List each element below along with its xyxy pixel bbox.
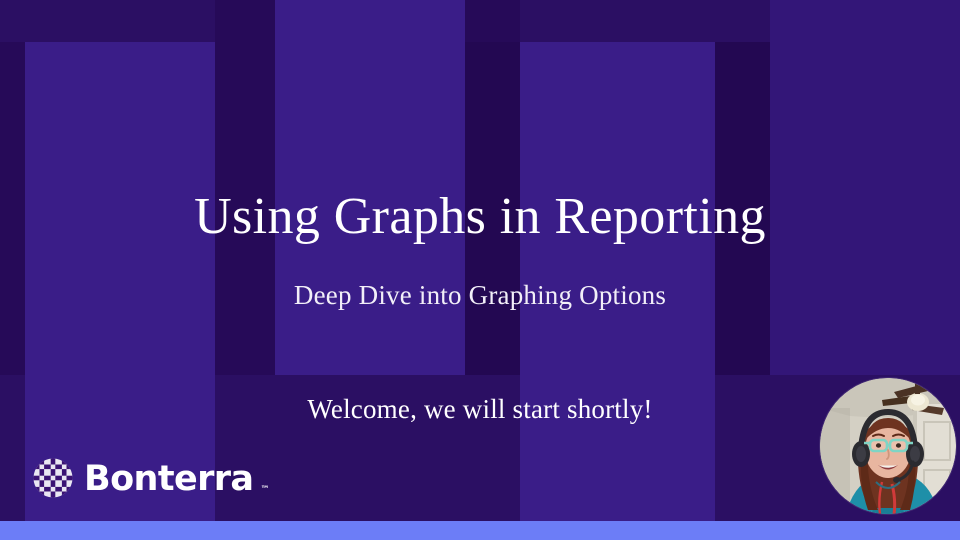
slide-welcome-notice: Welcome, we will start shortly! <box>0 394 960 425</box>
accent-bar <box>0 521 960 540</box>
bonterra-logo: Bonterra ™ <box>33 458 273 498</box>
bonterra-wordmark: Bonterra <box>84 462 253 497</box>
bonterra-woven-circle-icon <box>33 458 73 498</box>
trademark-symbol: ™ <box>260 485 269 495</box>
presenter-video-bubble[interactable] <box>820 378 956 514</box>
slide-title: Using Graphs in Reporting <box>0 188 960 245</box>
slide-subtitle: Deep Dive into Graphing Options <box>0 280 960 311</box>
presentation-slide: Using Graphs in Reporting Deep Dive into… <box>0 0 960 540</box>
